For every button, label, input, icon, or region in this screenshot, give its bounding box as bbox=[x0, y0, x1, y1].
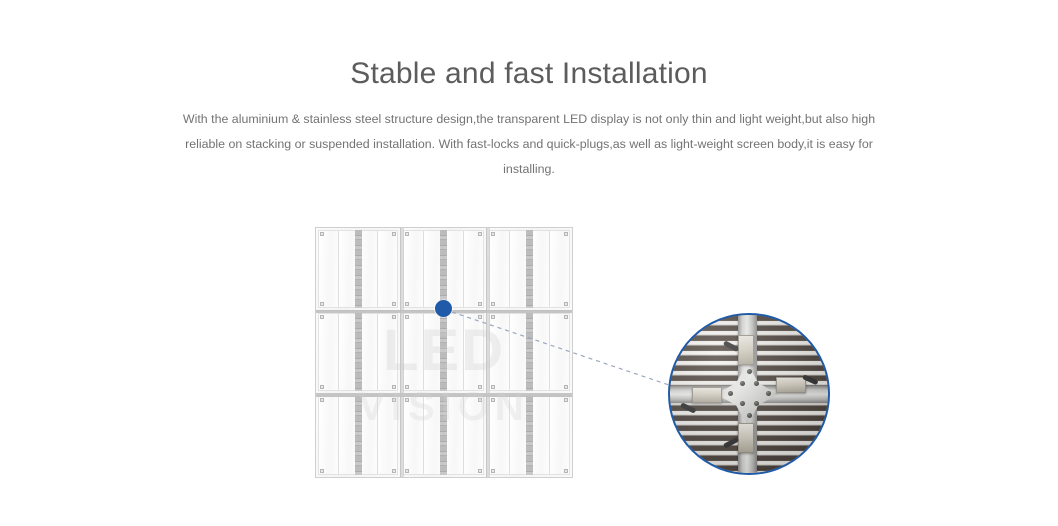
panel-cabinet bbox=[316, 394, 401, 477]
fast-lock-marker bbox=[564, 469, 568, 473]
fast-lock-marker bbox=[564, 232, 568, 236]
fast-lock-marker bbox=[320, 302, 324, 306]
fast-lock-marker bbox=[392, 469, 396, 473]
detail-photo bbox=[668, 313, 830, 475]
panel-cabinet bbox=[316, 228, 401, 311]
fast-lock-marker bbox=[392, 302, 396, 306]
fast-lock-marker bbox=[320, 398, 324, 402]
fast-lock-marker bbox=[478, 385, 482, 389]
fast-lock-marker bbox=[405, 315, 409, 319]
panel-cabinet bbox=[316, 311, 401, 394]
cabinet-service-column bbox=[526, 396, 533, 475]
cabinet-service-column bbox=[355, 230, 362, 308]
fast-lock-marker bbox=[392, 385, 396, 389]
detail-photo-shading bbox=[668, 313, 830, 475]
fast-lock-marker bbox=[405, 398, 409, 402]
detail-magnifier-circle[interactable] bbox=[668, 313, 830, 475]
panel-cabinet bbox=[487, 311, 572, 394]
fast-lock-marker bbox=[491, 398, 495, 402]
cabinet-service-column bbox=[355, 396, 362, 475]
cabinet-service-column bbox=[526, 230, 533, 308]
fast-lock-marker bbox=[491, 232, 495, 236]
fast-lock-marker bbox=[491, 302, 495, 306]
panel-cabinet bbox=[401, 311, 486, 394]
led-panel-wall: LED VISION bbox=[315, 227, 573, 478]
fast-lock-marker bbox=[320, 232, 324, 236]
fast-lock-marker bbox=[320, 315, 324, 319]
panel-cabinet bbox=[401, 394, 486, 477]
fast-lock-marker bbox=[405, 469, 409, 473]
fast-lock-marker bbox=[405, 232, 409, 236]
panel-cabinet bbox=[401, 228, 486, 311]
fast-lock-marker bbox=[405, 302, 409, 306]
detail-hotspot-dot[interactable] bbox=[435, 300, 452, 317]
panel-cabinet bbox=[487, 228, 572, 311]
cabinet-service-column bbox=[526, 313, 533, 391]
cabinet-service-column bbox=[440, 230, 447, 308]
wall-rail-vertical bbox=[487, 228, 490, 477]
fast-lock-marker bbox=[320, 385, 324, 389]
wall-rail-horizontal bbox=[316, 394, 572, 397]
fast-lock-marker bbox=[392, 315, 396, 319]
fast-lock-marker bbox=[320, 469, 324, 473]
fast-lock-marker bbox=[392, 232, 396, 236]
wall-rail-vertical bbox=[401, 228, 404, 477]
fast-lock-marker bbox=[564, 302, 568, 306]
cabinet-service-column bbox=[355, 313, 362, 391]
fast-lock-marker bbox=[564, 315, 568, 319]
fast-lock-marker bbox=[491, 469, 495, 473]
installation-figure: LED VISION bbox=[0, 0, 1058, 526]
fast-lock-marker bbox=[478, 315, 482, 319]
fast-lock-marker bbox=[564, 398, 568, 402]
fast-lock-marker bbox=[478, 469, 482, 473]
panel-cabinet bbox=[487, 394, 572, 477]
cabinet-service-column bbox=[440, 313, 447, 391]
fast-lock-marker bbox=[478, 302, 482, 306]
cabinet-service-column bbox=[440, 396, 447, 475]
fast-lock-marker bbox=[478, 398, 482, 402]
fast-lock-marker bbox=[491, 315, 495, 319]
fast-lock-marker bbox=[405, 385, 409, 389]
fast-lock-marker bbox=[478, 232, 482, 236]
fast-lock-marker bbox=[491, 385, 495, 389]
fast-lock-marker bbox=[564, 385, 568, 389]
fast-lock-marker bbox=[392, 398, 396, 402]
